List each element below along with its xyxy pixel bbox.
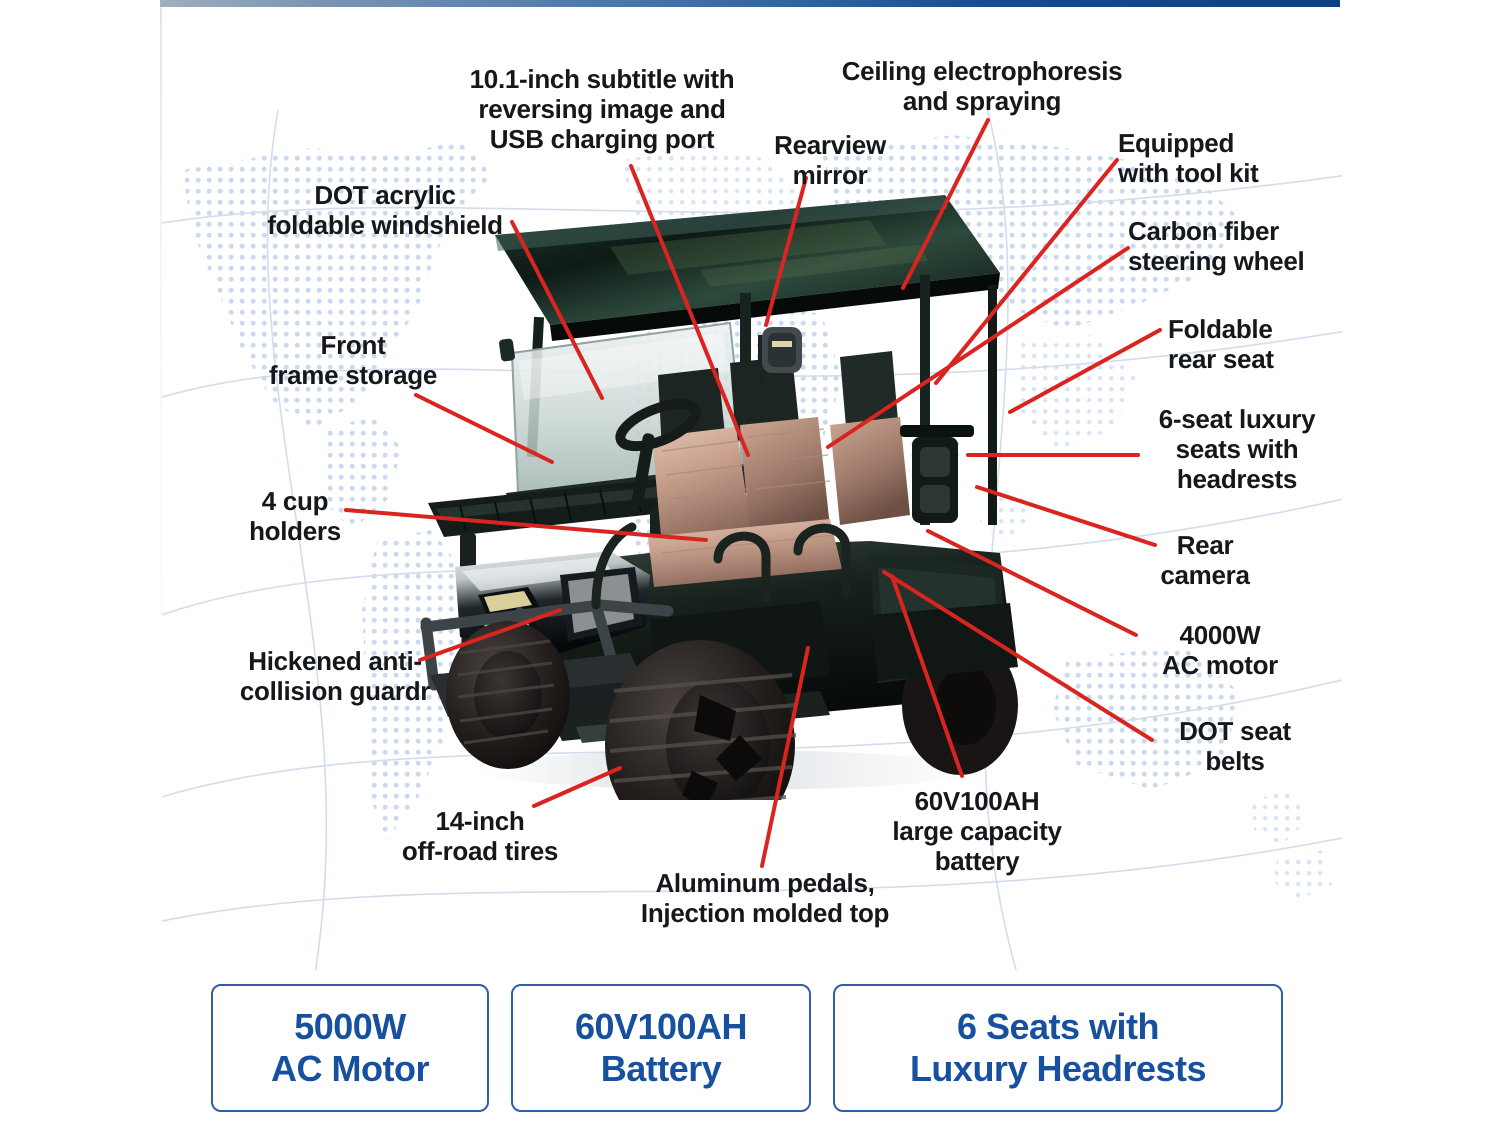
callout-mirror: Rearview mirror bbox=[760, 130, 900, 190]
callout-pedals: Aluminum pedals, Injection molded top bbox=[600, 868, 930, 928]
callout-tires: 14-inch off-road tires bbox=[370, 806, 590, 866]
callout-battery: 60V100AH large capacity battery bbox=[862, 786, 1092, 876]
callout-rear-seat: Foldable rear seat bbox=[1168, 314, 1358, 374]
callout-toolkit: Equipped with tool kit bbox=[1118, 128, 1338, 188]
callout-cup-holders: 4 cup holders bbox=[210, 486, 380, 546]
spec-box-seats[interactable]: 6 Seats with Luxury Headrests bbox=[833, 984, 1283, 1112]
callout-rear-camera: Rear camera bbox=[1130, 530, 1280, 590]
callout-steering: Carbon fiber steering wheel bbox=[1128, 216, 1348, 276]
callout-ceiling: Ceiling electrophoresis and spraying bbox=[820, 56, 1144, 116]
callout-windshield: DOT acrylic foldable windshield bbox=[240, 180, 530, 240]
callout-frame-storage: Front frame storage bbox=[228, 330, 478, 390]
callout-seat-belts: DOT seat belts bbox=[1150, 716, 1320, 776]
spec-box-battery[interactable]: 60V100AH Battery bbox=[511, 984, 811, 1112]
spec-box-row: 5000W AC Motor 60V100AH Battery 6 Seats … bbox=[211, 984, 1305, 1112]
callout-display: 10.1-inch subtitle with reversing image … bbox=[452, 64, 752, 154]
top-accent-bar bbox=[160, 0, 1340, 7]
spec-box-motor[interactable]: 5000W AC Motor bbox=[211, 984, 489, 1112]
infographic-page: 10.1-inch subtitle with reversing image … bbox=[0, 0, 1500, 1125]
callout-guardrail: Hickened anti- collision guardr bbox=[180, 646, 490, 706]
callout-motor: 4000W AC motor bbox=[1130, 620, 1310, 680]
callout-seats: 6-seat luxury seats with headrests bbox=[1128, 404, 1346, 494]
golf-cart-photo bbox=[400, 175, 1060, 800]
left-edge-rule bbox=[160, 7, 162, 1125]
